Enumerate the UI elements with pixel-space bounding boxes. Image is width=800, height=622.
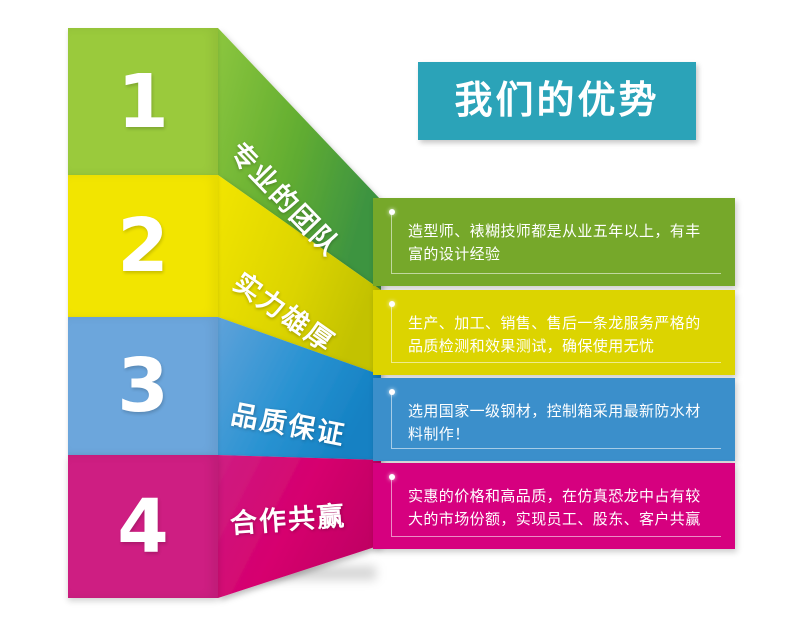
bullet-dot-icon bbox=[389, 209, 395, 215]
number-label-3: 3 bbox=[117, 349, 169, 423]
detail-panel-4-text: 实惠的价格和高品质，在仿真恐龙中占有较大的市场份额，实现员工、股东、客户共赢 bbox=[408, 485, 711, 532]
detail-panel-4-frame: 实惠的价格和高品质，在仿真恐龙中占有较大的市场份额，实现员工、股东、客户共赢 bbox=[391, 477, 721, 537]
number-block-3-face: 3 bbox=[68, 317, 218, 455]
number-block-4-face: 4 bbox=[68, 455, 218, 598]
number-block-1-face: 1 bbox=[68, 28, 218, 175]
detail-panel-2-text: 生产、加工、销售、售后一条龙服务严格的品质检测和效果测试，确保使用无忧 bbox=[408, 312, 711, 359]
number-label-1: 1 bbox=[117, 65, 169, 139]
detail-panel-1-frame: 造型师、裱糊技师都是从业五年以上，有丰富的设计经验 bbox=[391, 212, 721, 274]
bullet-dot-icon bbox=[389, 474, 395, 480]
detail-panel-1: 造型师、裱糊技师都是从业五年以上，有丰富的设计经验 bbox=[373, 198, 735, 286]
detail-panel-3-frame: 选用国家一级钢材，控制箱采用最新防水材料制作！ bbox=[391, 392, 721, 449]
detail-panel-1-text: 造型师、裱糊技师都是从业五年以上，有丰富的设计经验 bbox=[408, 220, 711, 267]
number-block-3: 3 bbox=[68, 317, 218, 455]
number-block-4: 4 bbox=[68, 455, 218, 598]
infographic-canvas: 1 2 3 4 专业的团队 实力雄厚 品质保证 合作共赢 我们的优势 造型师、裱… bbox=[0, 0, 800, 622]
detail-panel-2-frame: 生产、加工、销售、售后一条龙服务严格的品质检测和效果测试，确保使用无忧 bbox=[391, 304, 721, 363]
detail-panel-3: 选用国家一级钢材，控制箱采用最新防水材料制作！ bbox=[373, 378, 735, 461]
bullet-dot-icon bbox=[389, 389, 395, 395]
ribbon-caption-4: 合作共赢 bbox=[229, 494, 347, 541]
title-banner: 我们的优势 bbox=[418, 62, 696, 140]
number-block-2-face: 2 bbox=[68, 175, 218, 317]
page-title: 我们的优势 bbox=[454, 82, 659, 120]
number-label-4: 4 bbox=[117, 490, 169, 564]
bullet-dot-icon bbox=[389, 301, 395, 307]
detail-panel-2: 生产、加工、销售、售后一条龙服务严格的品质检测和效果测试，确保使用无忧 bbox=[373, 290, 735, 375]
detail-panel-3-text: 选用国家一级钢材，控制箱采用最新防水材料制作！ bbox=[408, 400, 711, 447]
detail-panel-4: 实惠的价格和高品质，在仿真恐龙中占有较大的市场份额，实现员工、股东、客户共赢 bbox=[373, 463, 735, 549]
number-block-1: 1 bbox=[68, 28, 218, 175]
number-block-2: 2 bbox=[68, 175, 218, 317]
number-label-2: 2 bbox=[117, 209, 169, 283]
